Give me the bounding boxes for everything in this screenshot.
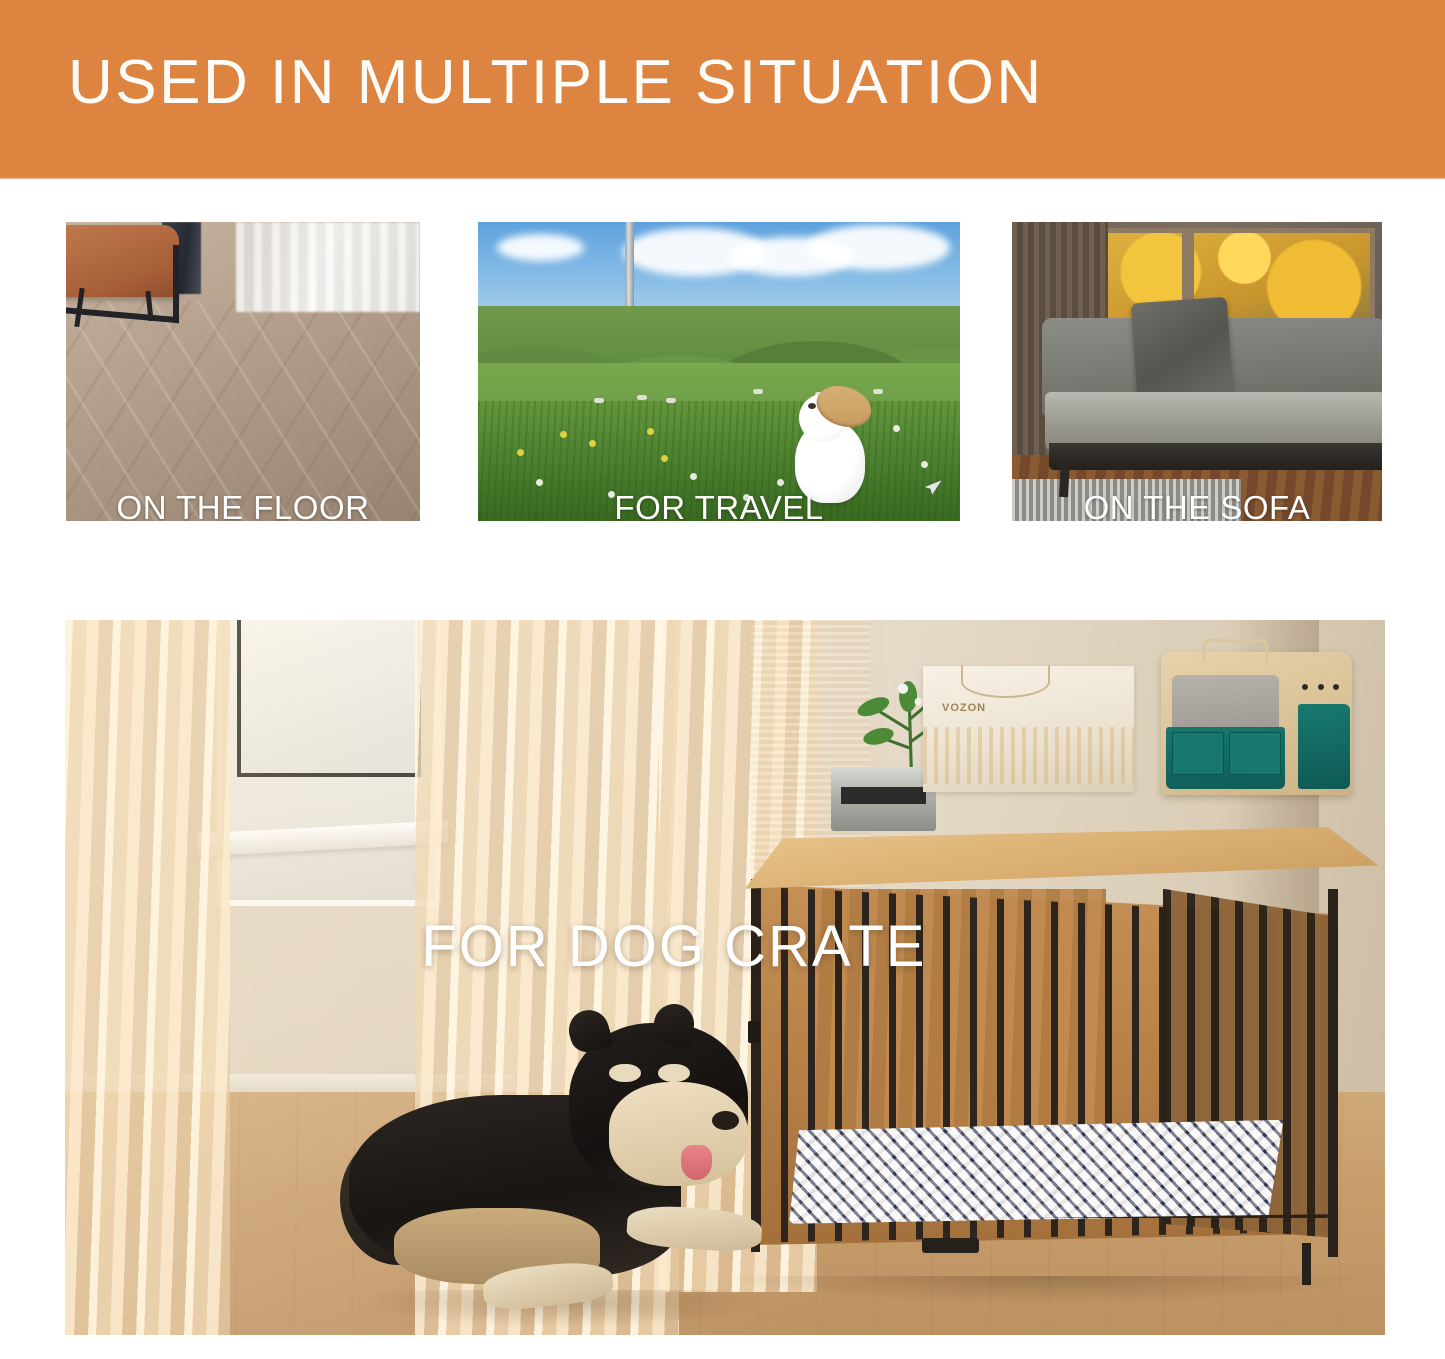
banner-bottom-edge — [0, 177, 1445, 180]
sheep — [753, 389, 763, 394]
flower — [536, 479, 543, 486]
utility-pole — [625, 222, 634, 306]
sheep — [666, 398, 676, 403]
carrier-pocket — [1172, 732, 1224, 775]
crate-floor-shadow — [732, 1276, 1366, 1304]
carrier-teal-side — [1298, 704, 1350, 790]
dog-nose — [808, 403, 816, 409]
crate-pet-mat — [789, 1120, 1283, 1224]
flower — [647, 428, 654, 435]
crate-base-rail — [751, 1214, 1328, 1266]
hero-image-dog-crate[interactable]: VOZON FOR DOG CRATE — [65, 620, 1385, 1335]
herringbone-pattern — [66, 300, 420, 521]
dog-eyebrow-marking — [609, 1064, 640, 1083]
dog-muzzle — [609, 1082, 748, 1186]
crate-frame-right — [1328, 889, 1338, 1257]
sofa-base — [1049, 443, 1382, 470]
crate-wood-tabletop — [745, 827, 1379, 888]
flower — [777, 479, 784, 486]
thumbnail-caption-travel: FOR TRAVEL — [478, 489, 960, 521]
header-banner: USED IN MULTIPLE SITUATION — [0, 0, 1445, 177]
dog-crate-furniture — [745, 827, 1379, 1299]
cloud — [497, 234, 584, 261]
sheer-curtain — [236, 222, 420, 312]
scenario-thumbnail-floor[interactable]: ON THE FLOOR — [66, 222, 420, 521]
thumbnail-caption-floor: ON THE FLOOR — [66, 489, 420, 521]
dog-in-meadow — [791, 389, 868, 503]
malamute-dog — [349, 1013, 798, 1328]
carrier-pocket — [1229, 732, 1281, 775]
dog-tongue — [681, 1145, 712, 1180]
carrier-vent-hole-icon — [1333, 684, 1339, 690]
flower — [517, 449, 524, 456]
chair-frame — [66, 235, 179, 323]
sheep — [594, 398, 604, 403]
sheer-curtain-left — [65, 620, 230, 1335]
scenario-thumbnail-travel[interactable]: FOR TRAVEL — [478, 222, 960, 521]
scenario-thumbnail-sofa[interactable]: ON THE SOFA — [1012, 222, 1382, 521]
thumbnail-caption-sofa: ON THE SOFA — [1012, 489, 1382, 521]
pet-carrier-backpack — [1161, 652, 1352, 795]
pot-label — [841, 787, 925, 804]
shopping-bag: VOZON — [923, 666, 1134, 791]
carrier-vent-hole-icon — [1302, 684, 1308, 690]
cloud — [806, 225, 951, 270]
flower — [893, 425, 900, 432]
carrier-vent-hole-icon — [1318, 684, 1324, 690]
plant-pot — [831, 767, 937, 831]
bag-handle — [961, 665, 1050, 698]
window-glass-pane — [237, 620, 422, 777]
crate-door-handle[interactable] — [922, 1238, 979, 1253]
bag-pattern — [923, 727, 1134, 785]
dog-nose — [712, 1111, 739, 1130]
carrier-handle — [1203, 639, 1268, 662]
sheep — [637, 395, 647, 400]
throw-pillow — [1131, 296, 1234, 398]
page-title: USED IN MULTIPLE SITUATION — [68, 52, 1044, 114]
hero-caption: FOR DOG CRATE — [421, 913, 926, 980]
dog-eyebrow-marking — [658, 1064, 689, 1083]
bag-brand-label: VOZON — [942, 702, 986, 714]
